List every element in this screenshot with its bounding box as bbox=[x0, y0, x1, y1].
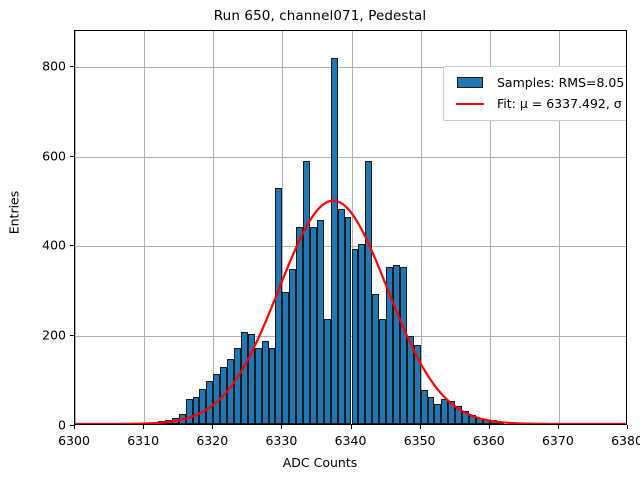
legend-label-fit: Fit: μ = 6337.492, σ = 7.854 bbox=[489, 96, 627, 111]
x-axis-tick-label: 6300 bbox=[58, 433, 90, 448]
y-axis-tick-label: 800 bbox=[22, 58, 66, 73]
page-title: Run 650, channel071, Pedestal bbox=[0, 8, 640, 24]
legend-entry-fit: Fit: μ = 6337.492, σ = 7.854 bbox=[451, 93, 627, 114]
x-axis-tick-label: 6320 bbox=[196, 433, 228, 448]
legend: Samples: RMS=8.05 Fit: μ = 6337.492, σ =… bbox=[443, 66, 627, 121]
x-axis-tick bbox=[558, 425, 559, 429]
x-axis-tick-label: 6360 bbox=[473, 433, 505, 448]
x-axis-tick-label: 6380 bbox=[611, 433, 640, 448]
y-axis-tick-label: 400 bbox=[22, 238, 66, 253]
legend-patch-icon bbox=[451, 77, 489, 88]
y-axis-tick bbox=[70, 66, 74, 67]
x-axis-tick bbox=[489, 425, 490, 429]
y-axis-tick-label: 0 bbox=[22, 418, 66, 433]
y-axis-tick bbox=[70, 335, 74, 336]
x-axis-tick bbox=[143, 425, 144, 429]
legend-entry-samples: Samples: RMS=8.05 bbox=[451, 72, 627, 93]
legend-label-samples: Samples: RMS=8.05 bbox=[489, 75, 624, 90]
x-axis-tick-label: 6350 bbox=[404, 433, 436, 448]
x-axis-tick-label: 6340 bbox=[335, 433, 367, 448]
y-axis-tick bbox=[70, 425, 74, 426]
x-axis-tick bbox=[351, 425, 352, 429]
y-axis-tick-label: 200 bbox=[22, 328, 66, 343]
y-axis-tick-label: 600 bbox=[22, 148, 66, 163]
chart-figure: Run 650, channel071, Pedestal Samples: R… bbox=[0, 0, 640, 480]
plot-area: Samples: RMS=8.05 Fit: μ = 6337.492, σ =… bbox=[74, 30, 627, 425]
x-axis-tick bbox=[212, 425, 213, 429]
y-axis-tick bbox=[70, 245, 74, 246]
x-axis-tick-label: 6370 bbox=[542, 433, 574, 448]
x-axis-tick bbox=[74, 425, 75, 429]
legend-line-icon bbox=[451, 103, 489, 105]
x-axis-label: ADC Counts bbox=[0, 455, 640, 470]
x-axis-tick bbox=[281, 425, 282, 429]
x-axis-tick-label: 6310 bbox=[127, 433, 159, 448]
x-axis-tick bbox=[420, 425, 421, 429]
x-axis-tick-label: 6330 bbox=[265, 433, 297, 448]
y-axis-tick bbox=[70, 156, 74, 157]
y-axis-label: Entries bbox=[7, 133, 22, 293]
x-axis-tick bbox=[627, 425, 628, 429]
